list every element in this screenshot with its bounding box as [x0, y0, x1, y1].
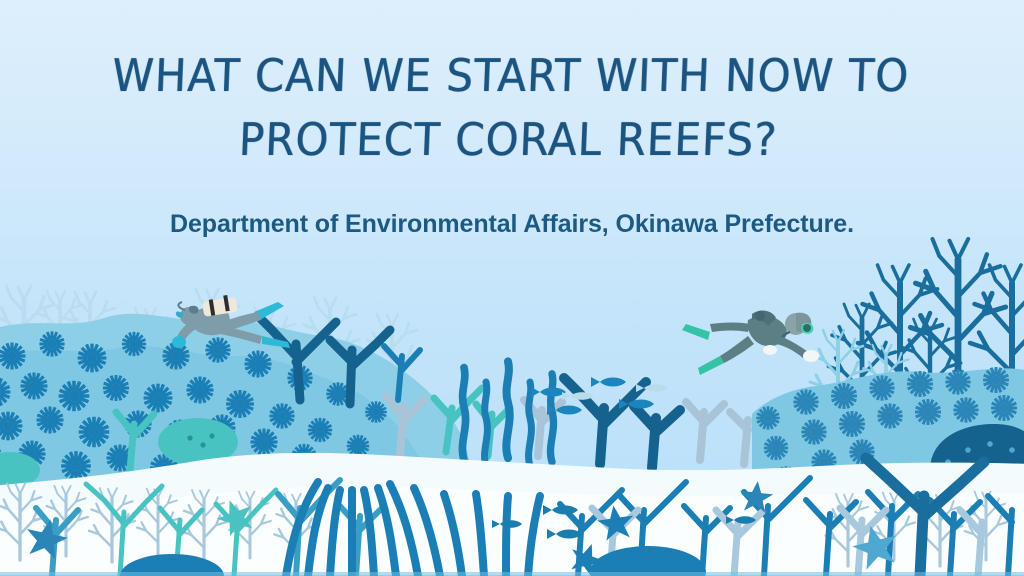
bottom-water-line — [0, 572, 1024, 576]
presentation-slide: WHAT CAN WE START WITH NOW TO PROTECT CO… — [0, 0, 1024, 576]
diver-right — [682, 311, 819, 375]
staghorn-coral-dark-center — [564, 378, 680, 468]
coral-reef-illustration — [0, 0, 1024, 576]
